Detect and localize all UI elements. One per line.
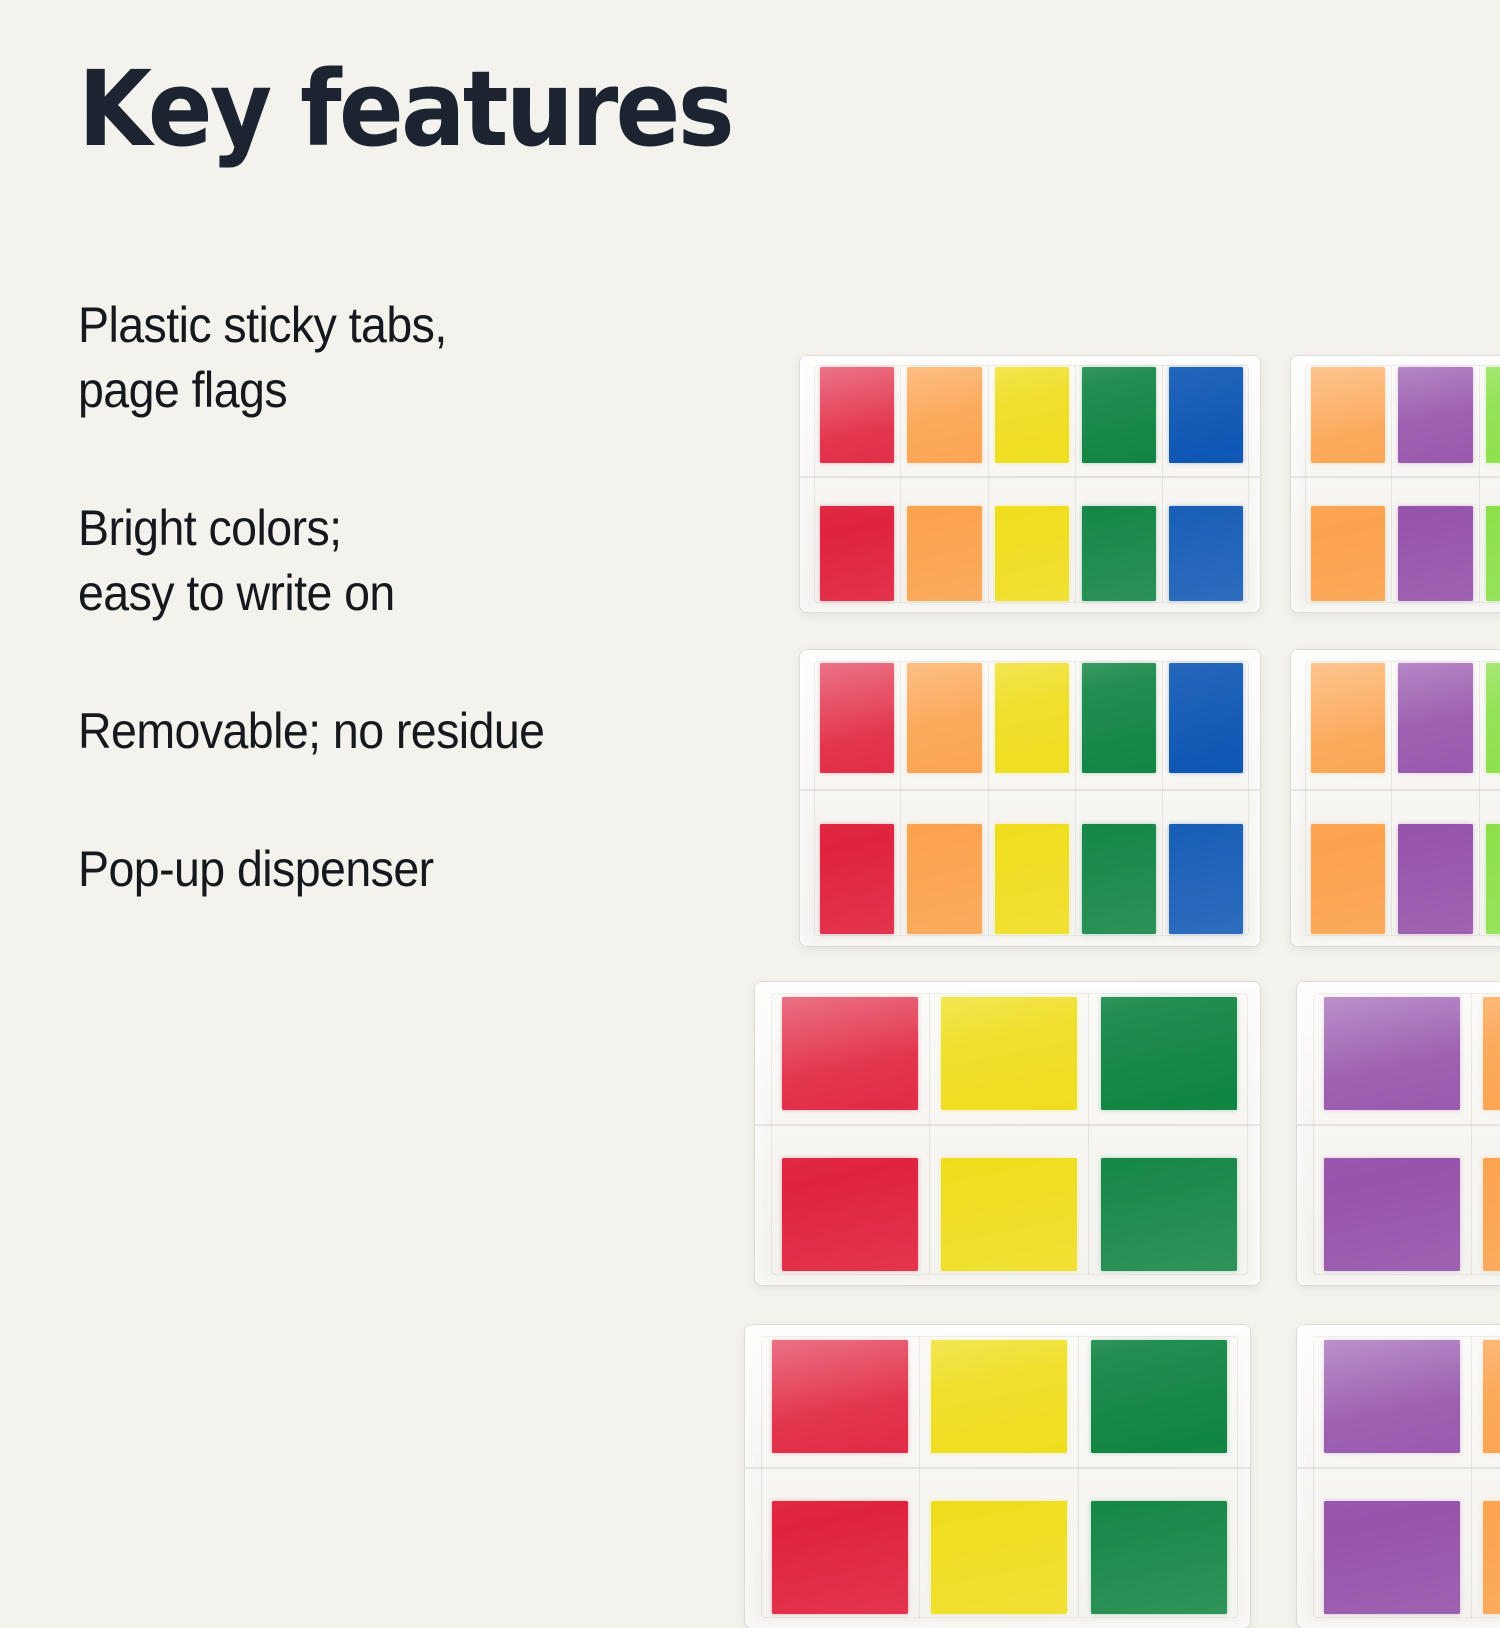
flag-tab-bottom-yellow (995, 506, 1069, 601)
flag-column-red (771, 993, 930, 1275)
dispenser-top-edge (800, 650, 1260, 659)
flag-tab-bottom-blue (1169, 824, 1243, 934)
dispenser-lip (1297, 1124, 1500, 1126)
flag-clear-section (1305, 773, 1391, 824)
flag-well (1313, 993, 1500, 1275)
dispenser-top-edge (1297, 1325, 1500, 1334)
flag-clear-section (1089, 1110, 1247, 1158)
flag-tab-bottom-red (820, 824, 894, 934)
flag-tab-top-green (1082, 663, 1156, 773)
flag-column-orange (1305, 365, 1392, 603)
dispenser-top-edge (800, 356, 1260, 365)
dispenser-lip (1291, 476, 1500, 478)
flag-tab-top-orange (907, 663, 981, 773)
dispenser-row2-left (800, 650, 1260, 946)
flag-clear-section (1163, 463, 1249, 506)
flag-tab-top-green (1091, 1340, 1227, 1453)
flag-tab-bottom-red (772, 1501, 908, 1614)
feature-item-2: Bright colors; easy to write on (78, 496, 692, 626)
flag-tab-top-purple (1398, 663, 1472, 773)
flag-column-yellow (920, 1336, 1079, 1618)
flag-column-red (814, 365, 901, 603)
flag-column-orange (1305, 661, 1392, 936)
flag-column-purple (1313, 1336, 1472, 1618)
flag-tab-bottom-orange (1483, 1158, 1500, 1271)
flag-clear-section (989, 773, 1075, 824)
feature-item-4: Pop-up dispenser (78, 837, 692, 902)
flag-tab-top-green (1101, 997, 1237, 1110)
flag-clear-section (1079, 1453, 1237, 1501)
plastic-sheen (1297, 1325, 1500, 1628)
flag-tab-top-orange (1483, 1340, 1500, 1453)
flag-tab-top-red (772, 1340, 908, 1453)
dispenser-row4-left (745, 1325, 1250, 1628)
flag-tab-top-purple (1324, 1340, 1460, 1453)
flag-well (1305, 661, 1500, 936)
flag-column-yellow (989, 365, 1076, 603)
flag-clear-section (901, 773, 987, 824)
dispenser-top-edge (1297, 982, 1500, 991)
flag-column-orange (901, 365, 988, 603)
plastic-sheen (800, 650, 1260, 946)
dispenser-row1-left (800, 356, 1260, 612)
flag-tab-bottom-yellow (941, 1158, 1077, 1271)
text-column: Key features Plastic sticky tabs, page f… (78, 56, 738, 902)
feature-item-3: Removable; no residue (78, 699, 692, 764)
flag-clear-section (1313, 1110, 1471, 1158)
flag-tab-top-red (782, 997, 918, 1110)
flag-clear-section (930, 1110, 1088, 1158)
flag-tab-bottom-green (1101, 1158, 1237, 1271)
flag-tab-top-yellow (931, 1340, 1067, 1453)
flag-tab-bottom-green (1091, 1501, 1227, 1614)
flag-clear-section (901, 463, 987, 506)
dispenser-lip (800, 789, 1260, 791)
flag-tab-bottom-orange (1311, 824, 1385, 934)
feature-list: Plastic sticky tabs, page flags Bright c… (78, 293, 738, 902)
flag-well (761, 1336, 1238, 1618)
flag-tab-top-orange (1483, 997, 1500, 1110)
flag-tab-top-purple (1324, 997, 1460, 1110)
flag-tab-bottom-red (820, 506, 894, 601)
flag-well (814, 365, 1249, 603)
dispenser-top-edge (1291, 356, 1500, 365)
flag-tab-top-orange (907, 367, 981, 462)
dispenser-top-edge (745, 1325, 1250, 1334)
flag-clear-section (1305, 463, 1391, 506)
flag-column-lime (1480, 365, 1500, 603)
flag-clear-section (771, 1110, 929, 1158)
flag-tab-top-lime (1486, 663, 1500, 773)
dispenser-lip (745, 1467, 1250, 1469)
flag-clear-section (814, 463, 900, 506)
flag-tab-bottom-green (1082, 824, 1156, 934)
flag-tab-top-yellow (995, 663, 1069, 773)
flag-column-blue (1163, 365, 1249, 603)
flag-tab-top-purple (1398, 367, 1472, 462)
plastic-sheen (1291, 650, 1500, 946)
flag-column-red (814, 661, 901, 936)
flag-tab-top-blue (1169, 663, 1243, 773)
flag-column-purple (1313, 993, 1472, 1275)
flag-tab-bottom-orange (1483, 1501, 1500, 1614)
flag-clear-section (920, 1453, 1078, 1501)
flag-tab-bottom-purple (1324, 1501, 1460, 1614)
dispenser-lip (1297, 1467, 1500, 1469)
page-title: Key features (78, 56, 685, 162)
flag-clear-section (1472, 1453, 1500, 1501)
dispenser-row1-right (1291, 356, 1500, 612)
flag-clear-section (761, 1453, 919, 1501)
dispenser-lip (800, 476, 1260, 478)
flag-well (1305, 365, 1500, 603)
flag-clear-section (1163, 773, 1249, 824)
dispenser-row2-right (1291, 650, 1500, 946)
flag-column-green (1076, 365, 1163, 603)
flag-clear-section (1076, 463, 1162, 506)
flag-column-yellow (930, 993, 1089, 1275)
dispenser-row4-right (1297, 1325, 1500, 1628)
flag-tab-bottom-red (782, 1158, 918, 1271)
flag-tab-top-yellow (941, 997, 1077, 1110)
plastic-sheen (745, 1325, 1250, 1628)
flag-clear-section (989, 463, 1075, 506)
flag-tab-bottom-purple (1398, 506, 1472, 601)
flag-column-orange (901, 661, 988, 936)
flag-column-purple (1392, 661, 1479, 936)
flag-clear-section (1313, 1453, 1471, 1501)
flag-tab-bottom-purple (1324, 1158, 1460, 1271)
flag-column-green (1079, 1336, 1237, 1618)
flag-column-green (1076, 661, 1163, 936)
flag-column-blue (1163, 661, 1249, 936)
flag-tab-top-red (820, 367, 894, 462)
dispenser-row3-right (1297, 982, 1500, 1285)
flag-tab-bottom-lime (1486, 506, 1500, 601)
flag-column-yellow (989, 661, 1076, 936)
flag-tab-bottom-purple (1398, 824, 1472, 934)
flag-tab-bottom-yellow (931, 1501, 1067, 1614)
flag-tab-top-yellow (995, 367, 1069, 462)
flag-tab-top-red (820, 663, 894, 773)
plastic-sheen (755, 982, 1260, 1285)
flag-column-red (761, 1336, 920, 1618)
flag-column-green (1089, 993, 1247, 1275)
flag-tab-bottom-blue (1169, 506, 1243, 601)
flag-tab-top-orange (1311, 663, 1385, 773)
dispenser-top-edge (755, 982, 1260, 991)
flag-tab-top-lime (1486, 367, 1500, 462)
dispenser-row3-left (755, 982, 1260, 1285)
flag-tab-bottom-yellow (995, 824, 1069, 934)
plastic-sheen (800, 356, 1260, 612)
flag-well (1313, 1336, 1500, 1618)
flag-tab-bottom-orange (1311, 506, 1385, 601)
dispenser-lip (755, 1124, 1260, 1126)
plastic-sheen (1291, 356, 1500, 612)
flag-tab-top-green (1082, 367, 1156, 462)
dispenser-top-edge (1291, 650, 1500, 659)
flag-clear-section (1472, 1110, 1500, 1158)
flag-tab-top-orange (1311, 367, 1385, 462)
flag-clear-section (814, 773, 900, 824)
feature-item-1: Plastic sticky tabs, page flags (78, 293, 692, 423)
flag-column-orange (1472, 1336, 1500, 1618)
flag-clear-section (1480, 463, 1500, 506)
flag-column-orange (1472, 993, 1500, 1275)
flag-tab-bottom-orange (907, 824, 981, 934)
flag-column-purple (1392, 365, 1479, 603)
dispenser-lip (1291, 789, 1500, 791)
plastic-sheen (1297, 982, 1500, 1285)
flag-well (814, 661, 1249, 936)
flag-column-lime (1480, 661, 1500, 936)
flag-tab-bottom-green (1082, 506, 1156, 601)
flag-clear-section (1392, 463, 1478, 506)
flag-tab-top-blue (1169, 367, 1243, 462)
flag-tab-bottom-orange (907, 506, 981, 601)
flag-clear-section (1392, 773, 1478, 824)
flag-well (771, 993, 1248, 1275)
flag-clear-section (1480, 773, 1500, 824)
flag-clear-section (1076, 773, 1162, 824)
flag-tab-bottom-lime (1486, 824, 1500, 934)
